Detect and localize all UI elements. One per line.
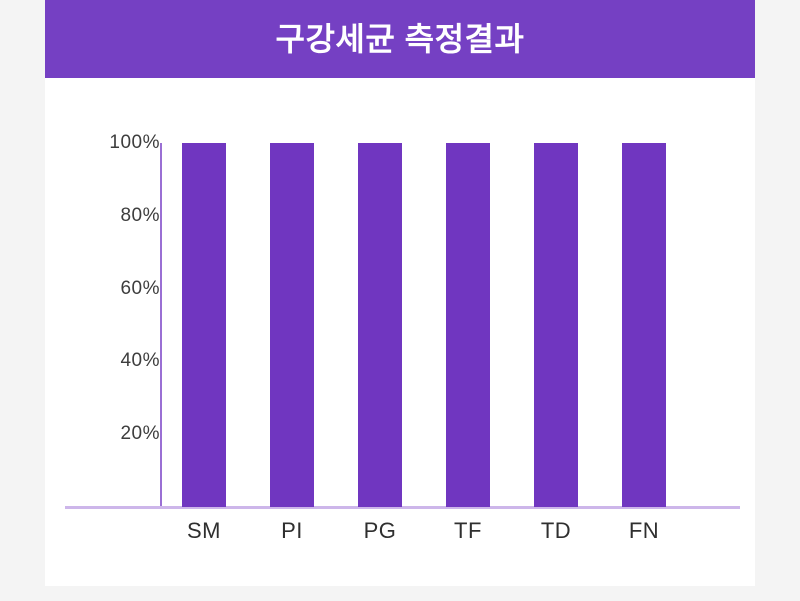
y-axis-tick: 20% (120, 423, 160, 445)
x-axis-tick-pg: PG (336, 518, 424, 544)
bar-slot (248, 143, 336, 507)
y-axis-tick: 40% (120, 350, 160, 372)
x-axis-tick-td: TD (512, 518, 600, 544)
x-axis-tick-sm: SM (160, 518, 248, 544)
x-axis-tick-pi: PI (248, 518, 336, 544)
page-title: 구강세균 측정결과 (276, 23, 525, 55)
bar-td[interactable] (534, 143, 578, 507)
y-axis-tick: 100% (109, 132, 160, 154)
x-axis-tick-tf: TF (424, 518, 512, 544)
y-axis-tick-labels: 100%80%60%40%20% (65, 78, 160, 586)
title-banner: 구강세균 측정결과 (45, 0, 755, 78)
bar-sm[interactable] (182, 143, 226, 507)
bar-tf[interactable] (446, 143, 490, 507)
bar-fn[interactable] (622, 143, 666, 507)
screenshot-root: 구강세균 측정결과 100%80%60%40%20% SMPIPGTFTDFN (0, 0, 800, 601)
bar-slot (336, 143, 424, 507)
x-axis-tick-fn: FN (600, 518, 688, 544)
bar-slot (512, 143, 600, 507)
bar-slot (424, 143, 512, 507)
bar-slot (160, 143, 248, 507)
y-axis-tick: 80% (120, 205, 160, 227)
bar-chart: 100%80%60%40%20% SMPIPGTFTDFN (45, 78, 755, 586)
bar-pg[interactable] (358, 143, 402, 507)
bar-pi[interactable] (270, 143, 314, 507)
chart-card: 구강세균 측정결과 100%80%60%40%20% SMPIPGTFTDFN (45, 0, 755, 586)
bar-slot (600, 143, 688, 507)
plot-area (160, 143, 740, 507)
y-axis-tick: 60% (120, 278, 160, 300)
x-axis-tick-labels: SMPIPGTFTDFN (160, 518, 740, 558)
